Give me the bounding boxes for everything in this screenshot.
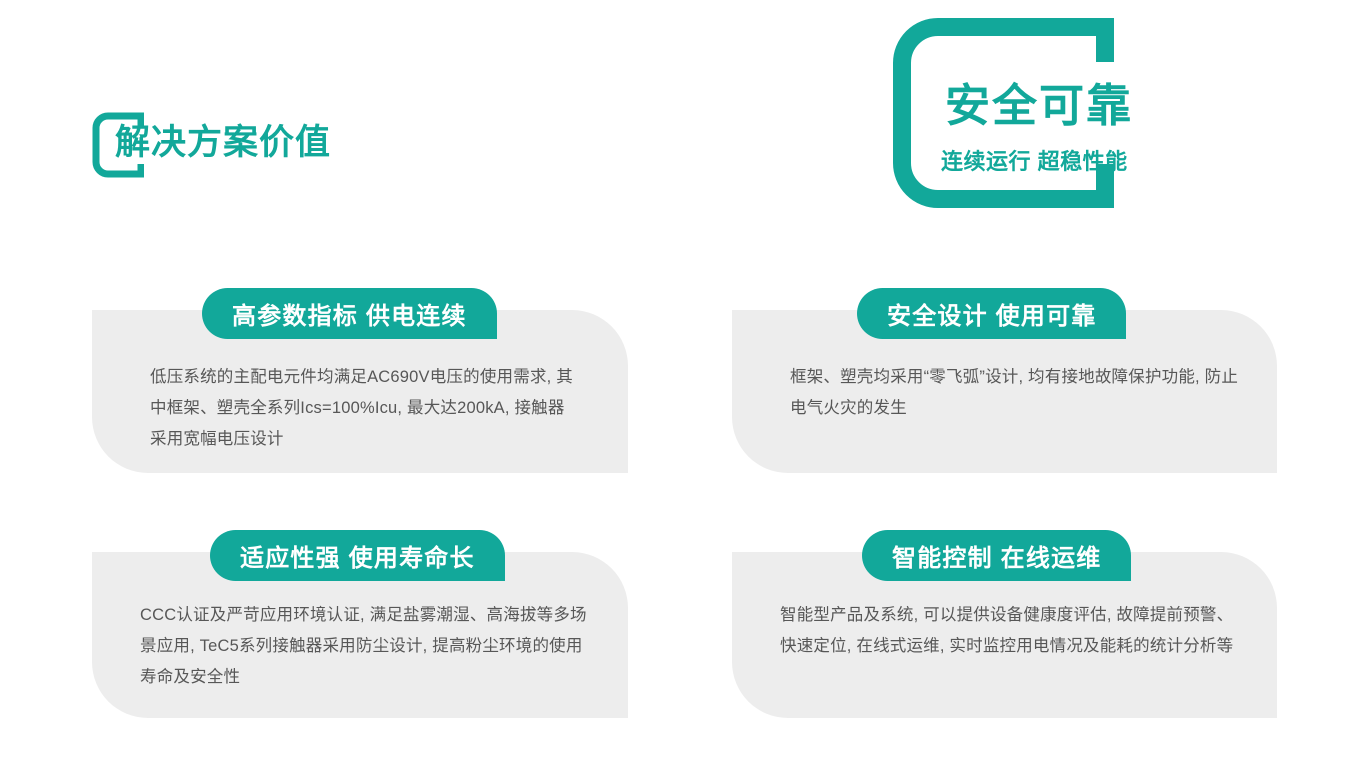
feature-card-header: 安全设计 使用可靠 [857, 288, 1126, 339]
feature-card: 高参数指标 供电连续 低压系统的主配电元件均满足AC690V电压的使用需求, 其… [92, 310, 628, 473]
feature-card-body: 低压系统的主配电元件均满足AC690V电压的使用需求, 其中框架、塑壳全系列Ic… [150, 362, 580, 455]
feature-card-header: 智能控制 在线运维 [862, 530, 1131, 581]
feature-card-header: 高参数指标 供电连续 [202, 288, 497, 339]
feature-card: 智能控制 在线运维 智能型产品及系统, 可以提供设备健康度评估, 故障提前预警、… [732, 552, 1277, 718]
feature-card-body: 框架、塑壳均采用“零飞弧”设计, 均有接地故障保护功能, 防止电气火灾的发生 [790, 362, 1240, 424]
feature-card-header: 适应性强 使用寿命长 [210, 530, 505, 581]
feature-card-body: CCC认证及严苛应用环境认证, 满足盐雾潮湿、高海拔等多场景应用, TeC5系列… [140, 600, 590, 693]
feature-card-body: 智能型产品及系统, 可以提供设备健康度评估, 故障提前预警、快速定位, 在线式运… [780, 600, 1240, 662]
feature-card: 安全设计 使用可靠 框架、塑壳均采用“零飞弧”设计, 均有接地故障保护功能, 防… [732, 310, 1277, 473]
feature-card-grid: 高参数指标 供电连续 低压系统的主配电元件均满足AC690V电压的使用需求, 其… [0, 0, 1350, 782]
feature-card: 适应性强 使用寿命长 CCC认证及严苛应用环境认证, 满足盐雾潮湿、高海拔等多场… [92, 552, 628, 718]
